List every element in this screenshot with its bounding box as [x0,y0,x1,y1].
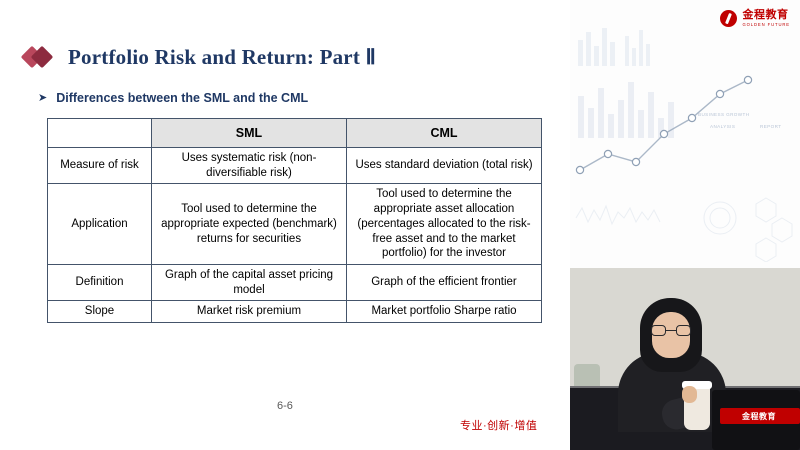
table-header-cml: CML [347,119,542,148]
slide-tagline: 专业·创新·增值 [460,417,537,433]
arrow-bullet-icon: ➤ [38,93,47,104]
glasses-icon [651,325,691,336]
cell-sml-measure-of-risk: Uses systematic risk (non-diversifiable … [152,148,347,184]
table-header-sml: SML [152,119,347,148]
slide-subtitle: Differences between the SML and the CML [56,91,308,105]
decor-label-analysis: ANALYSIS [710,124,735,129]
presenter-video[interactable]: 金程教育 [570,268,800,450]
row-label-measure-of-risk: Measure of risk [48,148,152,184]
cell-cml-application: Tool used to determine the appropriate a… [347,184,542,265]
slide-subtitle-row: ➤ Differences between the SML and the CM… [38,91,308,105]
page-number: 6-6 [277,400,293,412]
presenter-hand [682,386,697,403]
cell-cml-slope: Market portfolio Sharpe ratio [347,301,542,323]
table-row: Application Tool used to determine the a… [48,184,542,265]
decorative-chart-graphic [570,22,800,262]
row-label-slope: Slope [48,301,152,323]
decor-label-business-growth: BUSINESS GROWTH [698,112,749,117]
slide-title-row: Portfolio Risk and Return: Part Ⅱ [24,44,376,70]
comparison-table-wrapper: SML CML Measure of risk Uses systematic … [47,118,541,323]
row-label-definition: Definition [48,265,152,301]
table-header-blank [48,119,152,148]
cell-sml-slope: Market risk premium [152,301,347,323]
row-label-application: Application [48,184,152,265]
decor-label-report: REPORT [760,124,781,129]
cell-cml-definition: Graph of the efficient frontier [347,265,542,301]
table-row: Slope Market risk premium Market portfol… [48,301,542,323]
sml-cml-comparison-table: SML CML Measure of risk Uses systematic … [47,118,542,323]
table-row: Definition Graph of the capital asset pr… [48,265,542,301]
page-title: Portfolio Risk and Return: Part Ⅱ [68,45,376,70]
laptop-brand-text: 金程教育 [742,411,776,422]
cell-sml-application: Tool used to determine the appropriate e… [152,184,347,265]
cell-cml-measure-of-risk: Uses standard deviation (total risk) [347,148,542,184]
brand-name-cn: 金程教育 [742,10,790,21]
table-row: Measure of risk Uses systematic risk (no… [48,148,542,184]
slide-canvas: Portfolio Risk and Return: Part Ⅱ ➤ Diff… [0,0,800,450]
laptop-brand-band: 金程教育 [720,408,800,424]
table-header-row: SML CML [48,119,542,148]
cell-sml-definition: Graph of the capital asset pricing model [152,265,347,301]
diamond-bullet-icon [24,44,58,70]
